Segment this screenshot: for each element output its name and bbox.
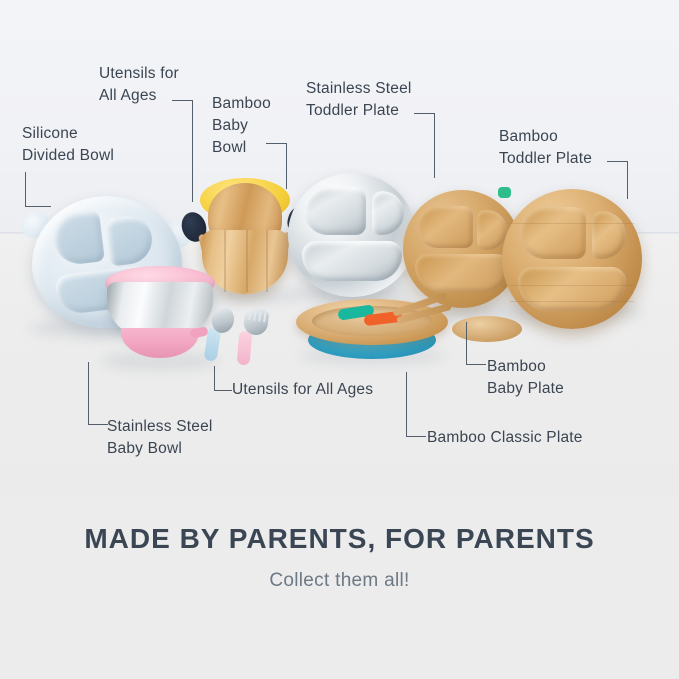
bamboo-front-compartment-2 bbox=[592, 211, 626, 259]
bamboo-grain-line bbox=[224, 230, 226, 292]
bamboo-grain-line bbox=[510, 223, 634, 224]
steel-plate-compartment-2 bbox=[372, 191, 404, 235]
label-bamboo-toddler-plate: Bamboo Toddler Plate bbox=[499, 126, 592, 170]
leader-utensils-all-ages-top bbox=[172, 100, 194, 202]
leader-stainless-steel-toddler-plate bbox=[414, 113, 436, 178]
label-silicone-divided-bowl: Silicone Divided Bowl bbox=[22, 123, 114, 167]
product-utensils-all-ages bbox=[200, 305, 308, 365]
pink-utensil-handle bbox=[237, 330, 253, 365]
silicone-bowl-compartment-2 bbox=[105, 213, 155, 266]
steel-plate-compartment-1 bbox=[304, 187, 366, 235]
bamboo-front-compartment-3 bbox=[518, 267, 626, 311]
leader-stainless-steel-baby-bowl bbox=[88, 362, 108, 426]
bamboo-back-compartment-1 bbox=[417, 206, 473, 248]
leader-bamboo-baby-bowl bbox=[266, 143, 288, 189]
product-stainless-steel-toddler-plate bbox=[288, 173, 416, 297]
leader-bamboo-toddler-plate bbox=[607, 161, 629, 199]
label-stainless-steel-toddler-plate: Stainless Steel Toddler Plate bbox=[306, 78, 412, 122]
product-bamboo-classic-plate bbox=[296, 299, 448, 361]
label-bamboo-baby-plate: Bamboo Baby Plate bbox=[487, 356, 564, 400]
infographic-canvas: Silicone Divided Bowl Utensils for All A… bbox=[0, 0, 679, 679]
product-bamboo-toddler-plate-front bbox=[502, 189, 642, 329]
bamboo-front-compartment-1 bbox=[520, 207, 586, 259]
bamboo-grain-line bbox=[510, 285, 634, 286]
leader-utensils-all-ages-bottom bbox=[214, 366, 232, 392]
bamboo-grain-line bbox=[266, 230, 268, 292]
bamboo-grain-line bbox=[510, 301, 634, 302]
leader-silicone-divided-bowl bbox=[25, 172, 51, 208]
footer-headline: MADE BY PARENTS, FOR PARENTS bbox=[0, 523, 679, 555]
leader-bamboo-classic-plate bbox=[406, 372, 426, 438]
steel-plate-disc bbox=[288, 173, 416, 297]
label-stainless-steel-baby-bowl: Stainless Steel Baby Bowl bbox=[107, 416, 213, 460]
pink-suction-base bbox=[121, 328, 199, 358]
label-utensils-all-ages-top: Utensils for All Ages bbox=[99, 63, 179, 107]
bamboo-plate-disc-front bbox=[502, 189, 642, 329]
silicone-bowl-compartment-1 bbox=[51, 209, 105, 266]
green-suction-tab bbox=[498, 187, 511, 198]
steel-plate-compartment-3 bbox=[302, 241, 402, 281]
leader-bamboo-baby-plate bbox=[466, 322, 486, 366]
footer-subline: Collect them all! bbox=[0, 570, 679, 592]
bamboo-back-compartment-3 bbox=[415, 254, 509, 292]
bamboo-grain-line bbox=[246, 230, 248, 292]
label-bamboo-baby-bowl: Bamboo Baby Bowl bbox=[212, 93, 271, 159]
label-utensils-all-ages-bottom: Utensils for All Ages bbox=[232, 379, 373, 401]
label-bamboo-classic-plate: Bamboo Classic Plate bbox=[427, 427, 583, 449]
